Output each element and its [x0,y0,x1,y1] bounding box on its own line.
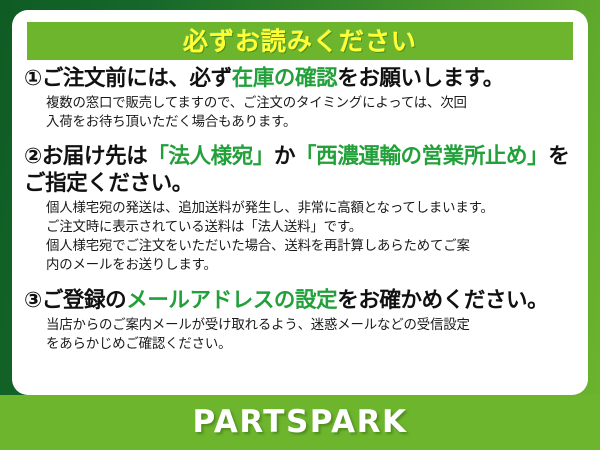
notice-item-3-heading-pre: ご登録の [42,288,126,313]
notice-item-2-body: 個人様宅宛の発送は、追加送料が発生し、非常に高額となってしまいます。 ご注文時に… [46,199,578,275]
notice-item-1-body: 複数の窓口で販売してますので、ご注文のタイミングによっては、次回 入荷をお待ち頂… [46,94,578,132]
notice-item-1: ①ご注文前には、必ず在庫の確認をお願いします。 複数の窓口で販売してますので、ご… [24,66,578,132]
notice-item-3: ③ご登録のメールアドレスの設定をお確かめください。 当店からのご案内メールが受け… [24,288,578,354]
notice-item-1-body-line-1: 複数の窓口で販売してますので、ご注文のタイミングによっては、次回 [46,94,578,113]
notice-item-2: ②お届け先は「法人様宛」か「西濃運輸の営業所止め」をご指定ください。 個人様宅宛… [24,144,578,275]
notice-item-2-body-line-1: 個人様宅宛の発送は、追加送料が発生し、非常に高額となってしまいます。 [46,199,578,218]
notice-item-2-body-line-3: 個人様宅宛でご注文をいただいた場合、送料を再計算しあらためてご案 [46,237,578,256]
notice-card: 必ずお読みください ①ご注文前には、必ず在庫の確認をお願いします。 複数の窓口で… [0,0,600,450]
page-title: 必ずお読みください [183,29,417,54]
notice-item-3-body-line-1: 当店からのご案内メールが受け取れるよう、迷惑メールなどの受信設定 [46,316,578,335]
notice-item-1-heading-highlight: 在庫の確認 [232,66,338,91]
notice-item-1-body-line-2: 入荷をお待ち頂いただく場合もあります。 [46,113,578,132]
notice-item-2-body-line-4: 内のメールをお送りします。 [46,256,578,275]
notice-item-2-heading: ②お届け先は「法人様宛」か「西濃運輸の営業所止め」をご指定ください。 [24,144,578,196]
notice-item-1-heading: ①ご注文前には、必ず在庫の確認をお願いします。 [24,66,578,92]
notice-item-1-heading-post: をお願いします。 [337,66,504,91]
notice-item-2-number: ② [24,144,42,169]
notice-item-3-heading-highlight: メールアドレスの設定 [126,288,337,313]
notice-item-3-heading-post: をお確かめください。 [337,288,548,313]
notice-item-3-number: ③ [24,288,42,313]
white-panel: 必ずお読みください ①ご注文前には、必ず在庫の確認をお願いします。 複数の窓口で… [12,10,588,395]
footer-banner: PARTSPARK [0,395,600,450]
notice-item-3-body: 当店からのご案内メールが受け取れるよう、迷惑メールなどの受信設定 をあらかじめご… [46,316,578,354]
notice-item-2-heading-pre: お届け先は [42,144,148,169]
notice-item-2-heading-highlight-2: 「西濃運輸の営業所止め」 [295,144,548,169]
notice-item-2-body-line-2: ご注文時に表示されている送料は「法人送料」です。 [46,218,578,237]
notice-item-1-heading-pre: ご注文前には、必ず [42,66,232,91]
notice-item-3-heading: ③ご登録のメールアドレスの設定をお確かめください。 [24,288,578,314]
brand-logo-text: PARTSPARK [192,407,407,438]
notice-item-2-heading-highlight: 「法人様宛」 [147,144,274,169]
header-banner: 必ずお読みください [27,22,573,60]
notice-item-3-body-line-2: をあらかじめご確認ください。 [46,335,578,354]
notice-item-2-heading-mid: か [274,144,295,169]
notice-item-1-number: ① [24,66,42,91]
notice-items-list: ①ご注文前には、必ず在庫の確認をお願いします。 複数の窓口で販売してますので、ご… [12,66,588,358]
